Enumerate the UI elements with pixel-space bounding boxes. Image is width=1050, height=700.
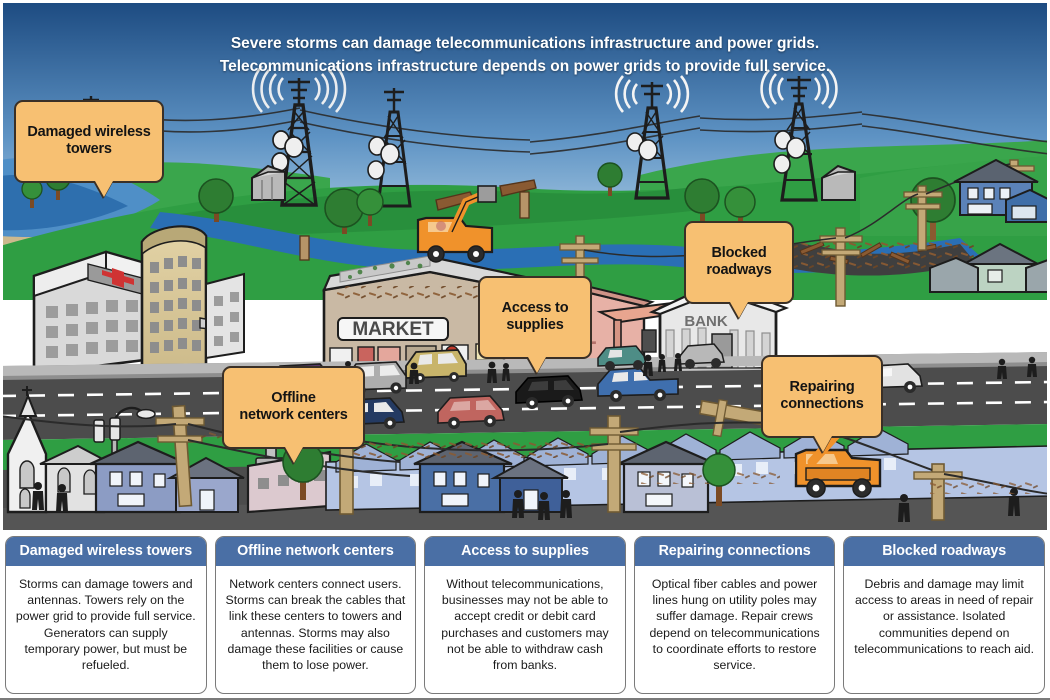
- scene-illustration: MARKET FUEL: [0, 0, 1050, 533]
- explanation-panels: Damaged wireless towers Storms can damag…: [0, 533, 1050, 700]
- panel-body-text: Without telecommunications, businesses m…: [425, 566, 625, 693]
- panel-heading: Repairing connections: [635, 537, 835, 566]
- callout-pointer: [285, 447, 303, 463]
- callout-label: Access to supplies: [502, 300, 569, 332]
- callout-pointer: [814, 436, 832, 452]
- panel-blocked-roadways: Blocked roadways Debris and damage may l…: [843, 536, 1045, 694]
- callout-label: Blocked roadways: [706, 245, 771, 277]
- callout-pointer: [528, 357, 546, 373]
- callout-offline-network-centers: Offline network centers: [222, 366, 365, 449]
- panel-offline-network-centers: Offline network centers Network centers …: [215, 536, 417, 694]
- callout-label: Damaged wireless towers: [27, 124, 150, 156]
- panel-body-text: Network centers connect users. Storms ca…: [216, 566, 416, 693]
- infographic-page: MARKET FUEL: [0, 0, 1050, 700]
- panel-access-to-supplies: Access to supplies Without telecommunica…: [424, 536, 626, 694]
- market-sign-text: MARKET: [352, 319, 434, 340]
- callout-pointer: [730, 302, 748, 318]
- panel-heading: Blocked roadways: [844, 537, 1044, 566]
- panel-heading: Damaged wireless towers: [6, 537, 206, 566]
- panel-body-text: Optical fiber cables and power lines hun…: [635, 566, 835, 693]
- callout-damaged-wireless-towers: Damaged wireless towers: [14, 100, 164, 183]
- panel-body-text: Storms can damage towers and antennas. T…: [6, 566, 206, 693]
- panel-heading: Access to supplies: [425, 537, 625, 566]
- panel-damaged-wireless-towers: Damaged wireless towers Storms can damag…: [5, 536, 207, 694]
- panel-repairing-connections: Repairing connections Optical fiber cabl…: [634, 536, 836, 694]
- callout-access-to-supplies: Access to supplies: [478, 276, 592, 359]
- callout-blocked-roadways: Blocked roadways: [684, 221, 794, 304]
- panel-heading: Offline network centers: [216, 537, 416, 566]
- callout-label: Offline network centers: [239, 390, 347, 422]
- callout-pointer: [95, 181, 113, 197]
- low-building-right-of-tower: [206, 274, 244, 358]
- panel-body-text: Debris and damage may limit access to ar…: [844, 566, 1044, 693]
- callout-label: Repairing connections: [780, 379, 863, 411]
- callout-repairing-connections: Repairing connections: [761, 355, 883, 438]
